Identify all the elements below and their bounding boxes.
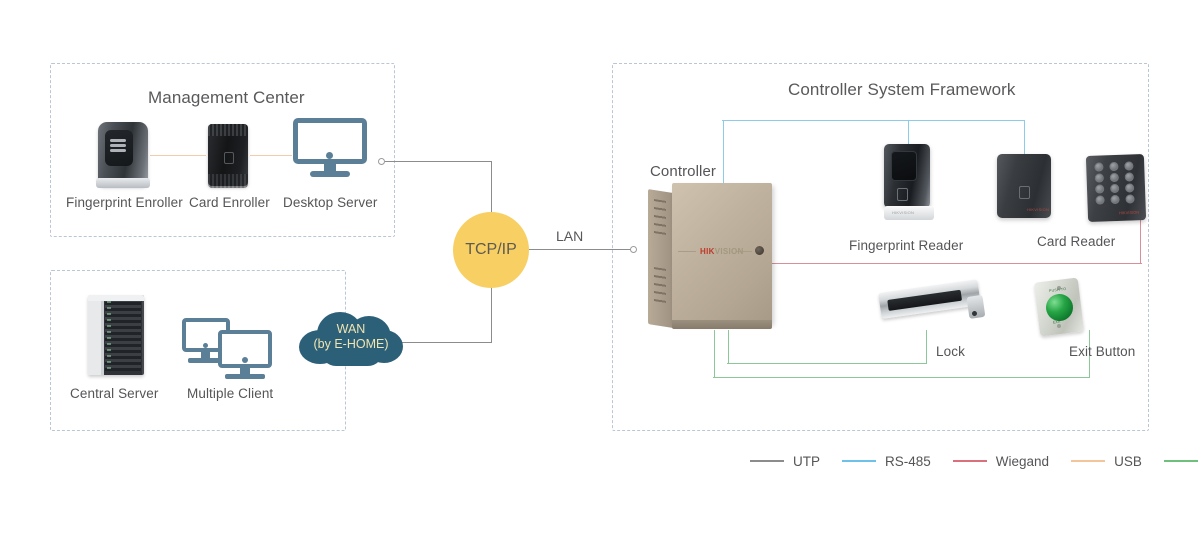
link-rvv-lock-bus bbox=[727, 363, 927, 364]
link-rs485-bus bbox=[722, 120, 1025, 121]
legend-swatch-utp bbox=[750, 460, 784, 462]
keypad-reader-brand: HIKVISION bbox=[1119, 210, 1139, 216]
management-center-title: Management Center bbox=[148, 88, 305, 108]
desktop-server-label: Desktop Server bbox=[283, 195, 377, 210]
legend-swatch-wiegand bbox=[953, 460, 987, 462]
legend-item-rs485: RS-485 bbox=[842, 454, 931, 469]
lan-label: LAN bbox=[556, 228, 583, 244]
multiple-client-label: Multiple Client bbox=[187, 386, 273, 401]
controller-brand-vision: VISION bbox=[715, 247, 744, 256]
tcpip-node: TCP/IP bbox=[453, 212, 529, 288]
legend: UTP RS-485 Wiegand USB RVV bbox=[750, 450, 1200, 472]
link-usb-cardenroller-desktop bbox=[250, 155, 292, 156]
card-enroller-label: Card Enroller bbox=[189, 195, 270, 210]
legend-label-utp: UTP bbox=[793, 454, 820, 469]
card-reader-icon: HIKVISION bbox=[997, 154, 1053, 220]
exit-button-icon: PUSH TO EXIT bbox=[1037, 280, 1085, 336]
controller-brand-hik: HIK bbox=[700, 247, 715, 256]
desktop-server-icon bbox=[293, 118, 367, 180]
lock-label: Lock bbox=[936, 344, 965, 359]
central-server-icon bbox=[88, 295, 144, 375]
link-rvv-exit-bus bbox=[713, 377, 1090, 378]
controller-lock-screw-icon bbox=[755, 246, 764, 255]
link-wiegand-bus bbox=[772, 263, 1142, 264]
link-rvv-exit-riser bbox=[714, 330, 715, 378]
legend-swatch-rvv bbox=[1164, 460, 1198, 462]
controller-brand-logo: HIKVISION bbox=[700, 247, 744, 256]
legend-item-utp: UTP bbox=[750, 454, 820, 469]
wan-label-line2: (by E-HOME) bbox=[299, 337, 403, 352]
wan-label-line1: WAN bbox=[299, 322, 403, 337]
link-rvv-to-lock bbox=[926, 330, 927, 364]
port-controller-lan bbox=[630, 246, 637, 253]
port-desktop-server bbox=[378, 158, 385, 165]
legend-swatch-usb bbox=[1071, 460, 1105, 462]
keypad-keys bbox=[1094, 161, 1135, 204]
keypad-card-reader-icon: HIKVISION bbox=[1087, 155, 1147, 223]
link-utp-wan-to-tcpip-h bbox=[398, 342, 492, 343]
link-rvv-lock-riser bbox=[728, 330, 729, 364]
fingerprint-reader-label: Fingerprint Reader bbox=[849, 238, 963, 253]
legend-label-rs485: RS-485 bbox=[885, 454, 931, 469]
link-utp-desktop-to-tcpip-h bbox=[385, 161, 492, 162]
legend-item-rvv: RVV bbox=[1164, 454, 1200, 469]
diagram-canvas: Management Center Controller System Fram… bbox=[0, 0, 1200, 533]
legend-item-wiegand: Wiegand bbox=[953, 454, 1049, 469]
central-server-label: Central Server bbox=[70, 386, 158, 401]
fingerprint-reader-brand: HIKVISION bbox=[892, 210, 914, 215]
link-usb-fpenroller-cardenroller bbox=[150, 155, 206, 156]
card-reader-label: Card Reader bbox=[1037, 234, 1115, 249]
controller-icon: HIKVISION bbox=[648, 183, 774, 330]
link-rs485-controller-riser bbox=[723, 120, 724, 184]
fingerprint-enroller-icon bbox=[96, 122, 152, 188]
legend-swatch-rs485 bbox=[842, 460, 876, 462]
tcpip-label: TCP/IP bbox=[465, 241, 517, 259]
multiple-client-icon bbox=[182, 318, 272, 378]
card-reader-brand: HIKVISION bbox=[1027, 207, 1049, 212]
link-rs485-to-card-reader bbox=[1024, 120, 1025, 156]
controller-label: Controller bbox=[650, 163, 716, 180]
wan-cloud-text: WAN (by E-HOME) bbox=[299, 322, 403, 352]
link-utp-lan bbox=[529, 249, 633, 250]
controller-system-framework-title: Controller System Framework bbox=[788, 80, 1016, 100]
legend-label-usb: USB bbox=[1114, 454, 1142, 469]
exit-button-label: Exit Button bbox=[1069, 344, 1135, 359]
fingerprint-reader-icon: HIKVISION bbox=[884, 144, 936, 222]
legend-item-usb: USB bbox=[1071, 454, 1142, 469]
legend-label-wiegand: Wiegand bbox=[996, 454, 1049, 469]
card-enroller-icon bbox=[208, 124, 248, 188]
fingerprint-enroller-label: Fingerprint Enroller bbox=[66, 195, 183, 210]
magnetic-lock-icon bbox=[880, 285, 984, 331]
wan-cloud-icon: WAN (by E-HOME) bbox=[299, 310, 403, 368]
